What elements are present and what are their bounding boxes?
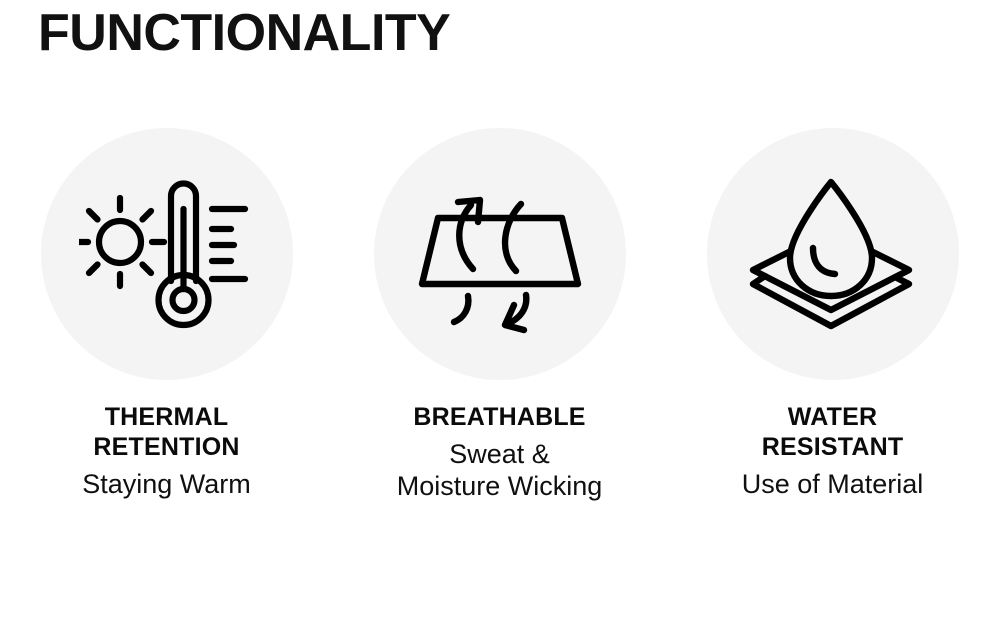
feature-card-water-resistant: WATER RESISTANT Use of Material xyxy=(666,128,999,500)
card-title-water-resistant: WATER RESISTANT xyxy=(673,402,993,462)
card-subtitle-thermal-retention: Staying Warm xyxy=(7,468,327,500)
card-subtitle-line1: Sweat & xyxy=(340,438,660,470)
icon-circle-water-resistant xyxy=(707,128,959,380)
feature-card-breathable: BREATHABLE Sweat & Moisture Wicking xyxy=(333,128,666,502)
feature-card-thermal-retention: THERMAL RETENTION Staying Warm xyxy=(0,128,333,500)
icon-circle-breathable xyxy=(374,128,626,380)
card-title-line1: THERMAL xyxy=(7,402,327,432)
thermometer-sun-icon xyxy=(79,178,254,330)
icon-circle-thermal-retention xyxy=(41,128,293,380)
card-title-line2: RESISTANT xyxy=(673,432,993,462)
airflow-fabric-icon xyxy=(410,174,590,334)
feature-cards-row: THERMAL RETENTION Staying Warm xyxy=(0,128,1000,502)
card-subtitle-breathable: Sweat & Moisture Wicking xyxy=(340,438,660,502)
card-title-breathable: BREATHABLE xyxy=(340,402,660,432)
card-text-water-resistant: WATER RESISTANT Use of Material xyxy=(673,402,993,500)
infographic-page: FUNCTIONALITY xyxy=(0,0,1000,644)
card-title-thermal-retention: THERMAL RETENTION xyxy=(7,402,327,462)
page-title: FUNCTIONALITY xyxy=(38,2,450,64)
card-subtitle-water-resistant: Use of Material xyxy=(673,468,993,500)
card-text-thermal-retention: THERMAL RETENTION Staying Warm xyxy=(7,402,327,500)
water-droplet-layers-icon xyxy=(743,174,923,334)
card-subtitle-line2: Moisture Wicking xyxy=(340,470,660,502)
card-title-line2: RETENTION xyxy=(7,432,327,462)
card-text-breathable: BREATHABLE Sweat & Moisture Wicking xyxy=(340,402,660,502)
card-title-line1: WATER xyxy=(673,402,993,432)
card-title-line1: BREATHABLE xyxy=(340,402,660,432)
